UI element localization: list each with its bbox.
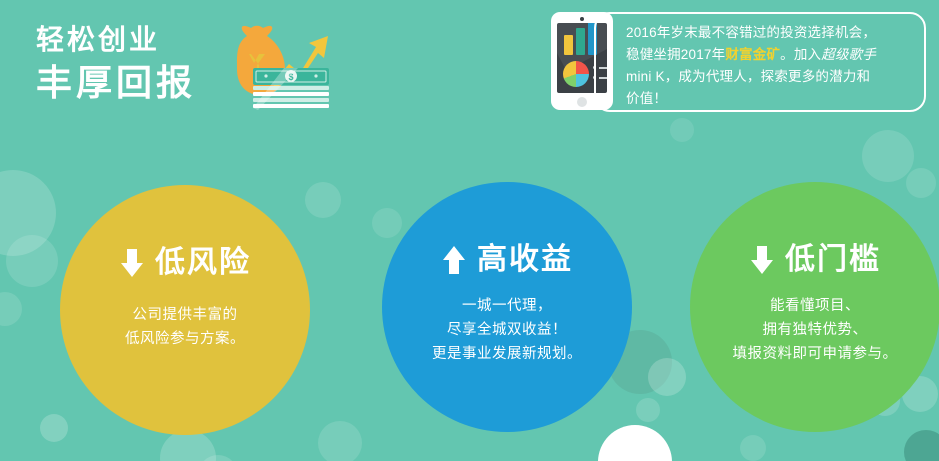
feature-body-line: 公司提供丰富的 xyxy=(78,303,292,327)
callout-product-name: mini K xyxy=(626,69,665,84)
bubble xyxy=(648,358,686,396)
feature-body-line: 低风险参与方案。 xyxy=(78,327,292,351)
feature-body-line: 拥有独特优势、 xyxy=(708,318,922,342)
feature-title-text: 低门槛 xyxy=(785,243,881,277)
tablet-home-button-icon xyxy=(577,97,587,107)
callout-highlight: 财富金矿 xyxy=(725,47,780,62)
feature-title-low-threshold: 低门槛 xyxy=(690,238,939,282)
feature-circle-low-threshold[interactable]: 低门槛 能看懂项目、 拥有独特优势、 填报资料即可申请参与。 xyxy=(690,182,939,432)
feature-body-line: 填报资料即可申请参与。 xyxy=(708,342,922,366)
bubble xyxy=(904,430,939,461)
bubble xyxy=(40,414,68,442)
feature-body-line: 更是事业发展新规划。 xyxy=(400,342,614,366)
promo-callout-text: 2016年岁末最不容错过的投资选择机会， 稳健坐拥2017年财富金矿。加入超级歌… xyxy=(626,22,914,110)
callout-line-3: mini K，成为代理人，探索更多的潜力和 xyxy=(626,66,914,88)
chart-pie-icon xyxy=(563,61,589,87)
money-illustration: $ xyxy=(214,18,330,118)
banner-header: 轻松创业 丰厚回报 xyxy=(0,0,939,145)
feature-body-high-return: 一城一代理， 尽享全城双收益！ 更是事业发展新规划。 xyxy=(400,294,614,366)
arrow-down-icon xyxy=(749,244,775,276)
feature-title-high-return: 高收益 xyxy=(382,238,632,282)
feature-body-line: 尽享全城双收益！ xyxy=(400,318,614,342)
bubble xyxy=(305,182,341,218)
callout-line-1: 2016年岁末最不容错过的投资选择机会， xyxy=(626,22,914,44)
feature-body-line: 能看懂项目、 xyxy=(708,294,922,318)
bubble xyxy=(0,292,22,326)
tablet-camera-icon xyxy=(580,17,584,21)
promo-callout: 2016年岁末最不容错过的投资选择机会， 稳健坐拥2017年财富金矿。加入超级歌… xyxy=(594,12,926,112)
bubble xyxy=(740,435,766,461)
bubble xyxy=(906,168,936,198)
callout-line-2-a: 稳健坐拥2017年 xyxy=(626,47,725,62)
chart-bar-1 xyxy=(564,35,573,55)
callout-line-3-b: ，成为代理人，探索更多的潜力和 xyxy=(665,69,871,84)
feature-title-text: 低风险 xyxy=(155,246,251,280)
bubble xyxy=(318,421,362,461)
feature-title-text: 高收益 xyxy=(477,243,573,277)
callout-line-2-b: 。加入 xyxy=(780,47,821,62)
bubble xyxy=(636,398,660,422)
callout-line-2: 稳健坐拥2017年财富金矿。加入超级歌手 xyxy=(626,44,914,66)
arrow-down-icon xyxy=(119,247,145,279)
callout-line-4: 价值！ xyxy=(626,88,914,110)
chart-bar-2 xyxy=(576,28,585,55)
banknote-stack-icon: $ xyxy=(253,68,329,110)
headline: 轻松创业 丰厚回报 xyxy=(36,22,196,106)
headline-line-1: 轻松创业 xyxy=(36,22,196,58)
feature-body-line: 一城一代理， xyxy=(400,294,614,318)
feature-circle-high-return[interactable]: 高收益 一城一代理， 尽享全城双收益！ 更是事业发展新规划。 xyxy=(382,182,632,432)
bubble xyxy=(372,208,402,238)
headline-line-2: 丰厚回报 xyxy=(36,60,196,106)
bubble xyxy=(6,235,58,287)
callout-brand-script: 超级歌手 xyxy=(821,47,876,62)
bubble xyxy=(598,425,672,461)
promo-banner: 轻松创业 丰厚回报 xyxy=(0,0,939,461)
feature-title-low-risk: 低风险 xyxy=(60,241,310,285)
feature-body-low-risk: 公司提供丰富的 低风险参与方案。 xyxy=(78,303,292,351)
feature-circle-low-risk[interactable]: 低风险 公司提供丰富的 低风险参与方案。 xyxy=(60,185,310,435)
arrow-up-icon xyxy=(441,244,467,276)
feature-body-low-threshold: 能看懂项目、 拥有独特优势、 填报资料即可申请参与。 xyxy=(708,294,922,366)
